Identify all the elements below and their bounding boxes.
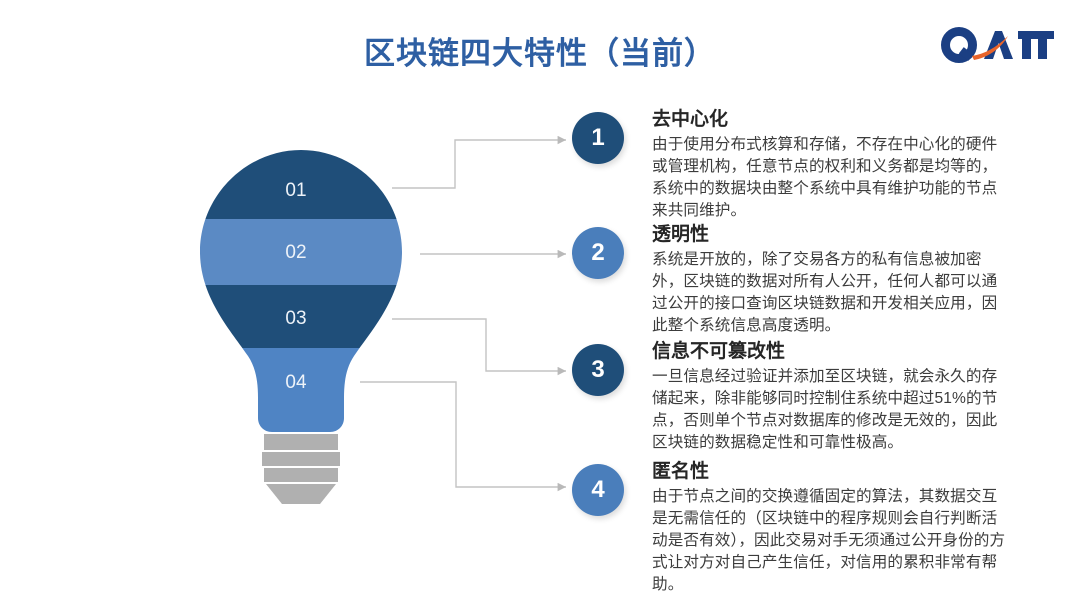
bulb-label-04: 04 <box>285 372 307 393</box>
page-title: 区块链四大特性（当前） <box>0 28 1080 73</box>
feature-body-4: 由于节点之间的交换遵循固定的算法，其数据交互是无需信任的（区块链中的程序规则会自… <box>652 486 1012 597</box>
bulb-label-03: 03 <box>285 308 306 329</box>
feature-title-2: 透明性 <box>652 223 1012 247</box>
feature-body-3: 一旦信息经过验证并添加至区块链，就会永久的存储起来，除非能够同时控制住系统中超过… <box>652 366 1012 455</box>
bulb-band-04 <box>186 348 416 438</box>
feature-title-3: 信息不可篡改性 <box>652 340 1012 364</box>
light-bulb-diagram: 01 02 03 04 <box>186 146 416 506</box>
connector-1 <box>392 140 566 188</box>
feature-body-2: 系统是开放的，除了交易各方的私有信息被加密外，区块链的数据对所有人公开，任何人都… <box>652 249 1012 338</box>
feature-item-4[interactable]: 4 匿名性 由于节点之间的交换遵循固定的算法，其数据交互是无需信任的（区块链中的… <box>572 460 1012 596</box>
feature-badge-1: 1 <box>572 112 624 164</box>
feature-badge-4: 4 <box>572 464 624 516</box>
feature-body-1: 由于使用分布式核算和存储，不存在中心化的硬件或管理机构，任意节点的权利和义务都是… <box>652 134 1012 223</box>
feature-badge-3: 3 <box>572 344 624 396</box>
logo-icon <box>938 26 1058 68</box>
bulb-base <box>262 434 340 504</box>
bulb-label-02: 02 <box>285 242 306 263</box>
feature-item-3[interactable]: 3 信息不可篡改性 一旦信息经过验证并添加至区块链，就会永久的存储起来，除非能够… <box>572 340 1012 454</box>
connector-3 <box>392 319 566 371</box>
feature-title-1: 去中心化 <box>652 108 1012 132</box>
bulb-label-01: 01 <box>285 180 306 201</box>
feature-title-4: 匿名性 <box>652 460 1012 484</box>
brand-logo <box>938 26 1058 68</box>
feature-item-1[interactable]: 1 去中心化 由于使用分布式核算和存储，不存在中心化的硬件或管理机构，任意节点的… <box>572 108 1012 222</box>
feature-badge-2: 2 <box>572 227 624 279</box>
feature-item-2[interactable]: 2 透明性 系统是开放的，除了交易各方的私有信息被加密外，区块链的数据对所有人公… <box>572 223 1012 337</box>
